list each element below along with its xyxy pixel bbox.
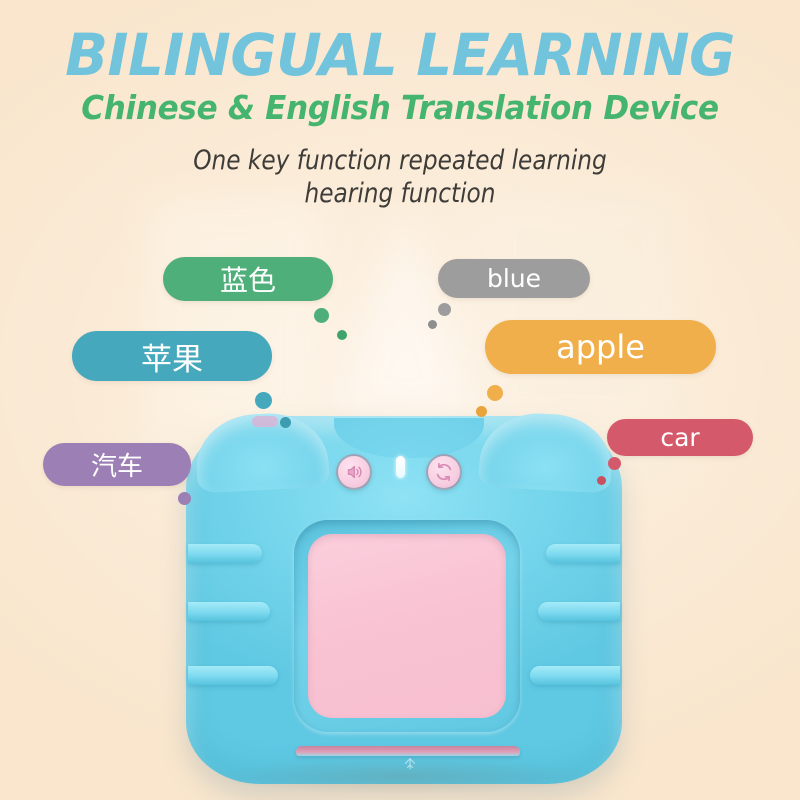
bubble-chinese-apple: 苹果 bbox=[72, 331, 272, 381]
bubble-english-apple: apple bbox=[485, 320, 716, 374]
bubble-chinese-blue: 蓝色 bbox=[163, 257, 333, 301]
translation-device bbox=[178, 408, 630, 800]
dot-blue-en-2 bbox=[428, 320, 437, 329]
repeat-button[interactable] bbox=[426, 454, 462, 490]
device-top-nub bbox=[252, 416, 278, 427]
device-ridge-left-2 bbox=[188, 602, 270, 621]
device-body bbox=[186, 416, 622, 784]
background-triangle-shape bbox=[335, 215, 475, 415]
device-ridge-left-1 bbox=[188, 544, 262, 563]
page-title: BILINGUAL LEARNING bbox=[12, 24, 788, 86]
dot-blue-en-1 bbox=[438, 303, 451, 316]
page-subtitle: Chinese & English Translation Device bbox=[24, 88, 776, 128]
dot-apple-cn-2 bbox=[280, 417, 291, 428]
tagline: One key function repeated learning heari… bbox=[56, 144, 744, 210]
tagline-line-2: hearing function bbox=[56, 177, 744, 210]
screen-bezel bbox=[294, 520, 520, 732]
device-screen bbox=[308, 534, 506, 718]
insert-arrow-icon bbox=[402, 756, 418, 770]
bubble-chinese-car: 汽车 bbox=[43, 443, 191, 486]
device-ridge-right-3 bbox=[530, 666, 620, 685]
power-led-indicator bbox=[396, 456, 405, 478]
dot-apple-en-2 bbox=[476, 406, 487, 417]
device-ridge-right-1 bbox=[546, 544, 620, 563]
dot-car-en-2 bbox=[597, 476, 606, 485]
poster-canvas: BILINGUAL LEARNING Chinese & English Tra… bbox=[0, 0, 800, 800]
bubble-english-blue: blue bbox=[438, 259, 590, 298]
sound-button[interactable] bbox=[336, 454, 372, 490]
dot-apple-cn-1 bbox=[255, 392, 272, 409]
heading-block: BILINGUAL LEARNING Chinese & English Tra… bbox=[0, 0, 800, 210]
speaker-sound-icon bbox=[343, 461, 365, 483]
card-insert-slot[interactable] bbox=[296, 746, 520, 756]
tagline-line-1: One key function repeated learning bbox=[56, 144, 744, 177]
device-ridge-right-2 bbox=[538, 602, 620, 621]
bubble-english-car: car bbox=[607, 419, 753, 456]
device-ridge-left-3 bbox=[188, 666, 278, 685]
dot-car-en-1 bbox=[608, 457, 621, 470]
device-top-dip bbox=[334, 418, 484, 458]
repeat-refresh-icon bbox=[433, 461, 455, 483]
dot-apple-en-1 bbox=[487, 385, 503, 401]
dot-blue-cn-1 bbox=[314, 308, 329, 323]
device-ear-right bbox=[478, 411, 614, 494]
dot-car-cn-1 bbox=[178, 492, 191, 505]
dot-blue-cn-2 bbox=[337, 330, 347, 340]
